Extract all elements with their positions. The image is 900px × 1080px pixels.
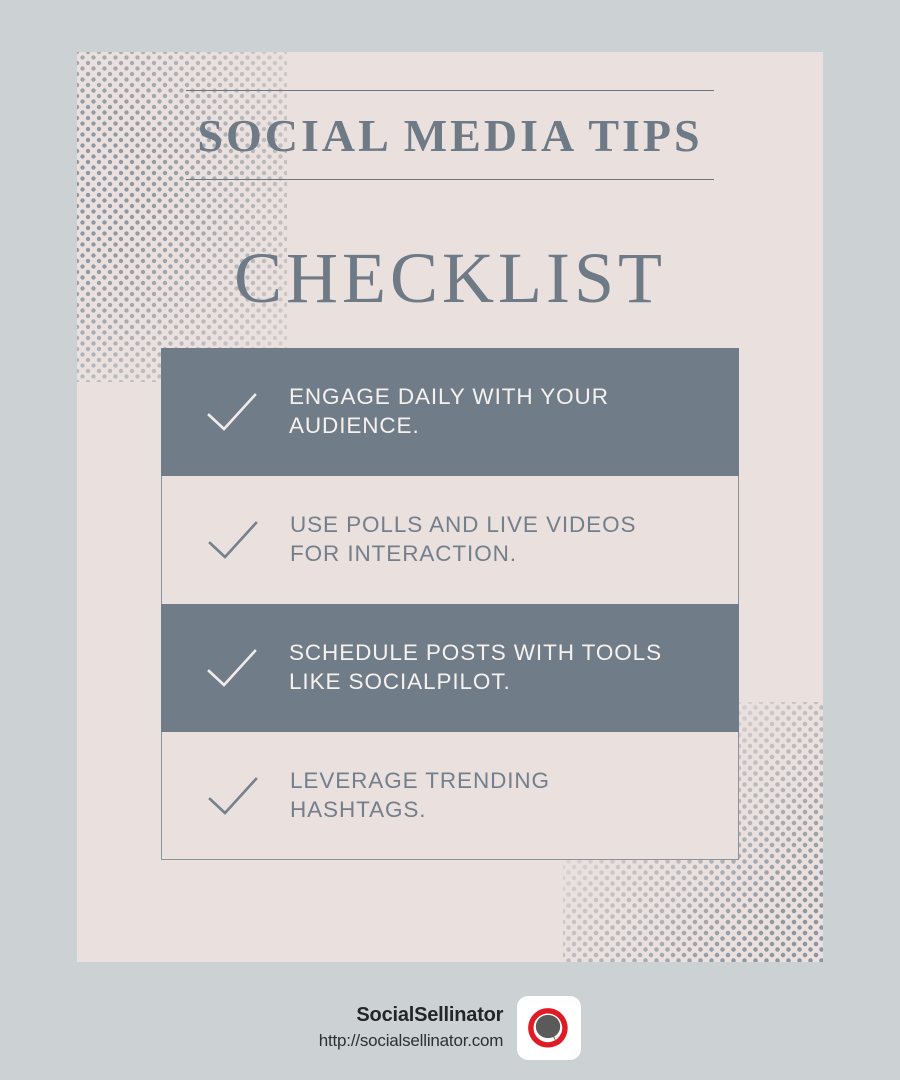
check-icon [205,390,259,434]
socialsellinator-logo[interactable] [517,996,581,1060]
checklist-item[interactable]: USE POLLS AND LIVE VIDEOS FOR INTERACTIO… [161,476,739,604]
brand-name: SocialSellinator [319,1003,504,1028]
check-icon [206,518,260,562]
page-subtitle: CHECKLIST [186,242,714,314]
footer-text-block: SocialSellinator http://socialsellinator… [319,1003,504,1052]
checklist-item-label: ENGAGE DAILY WITH YOUR AUDIENCE. [289,383,689,441]
checklist-item[interactable]: ENGAGE DAILY WITH YOUR AUDIENCE. [161,348,739,476]
checklist-item-label: LEVERAGE TRENDING HASHTAGS. [290,767,690,825]
footer: SocialSellinator http://socialsellinator… [0,985,900,1070]
check-icon [205,646,259,690]
poster-card: SOCIAL MEDIA TIPS CHECKLIST ENGAGE DAILY… [77,52,823,962]
poster-header: SOCIAL MEDIA TIPS CHECKLIST [186,90,714,314]
checklist-item[interactable]: SCHEDULE POSTS WITH TOOLS LIKE SOCIALPIL… [161,604,739,732]
title-rule-bottom [186,179,714,180]
page-title: SOCIAL MEDIA TIPS [186,91,714,179]
brand-url[interactable]: http://socialsellinator.com [319,1030,504,1052]
checklist-item-label: USE POLLS AND LIVE VIDEOS FOR INTERACTIO… [290,511,690,569]
checklist: ENGAGE DAILY WITH YOUR AUDIENCE. USE POL… [161,348,739,860]
speech-bubble-icon [523,1002,575,1054]
checklist-item[interactable]: LEVERAGE TRENDING HASHTAGS. [161,732,739,860]
check-icon [206,774,260,818]
checklist-item-label: SCHEDULE POSTS WITH TOOLS LIKE SOCIALPIL… [289,639,689,697]
